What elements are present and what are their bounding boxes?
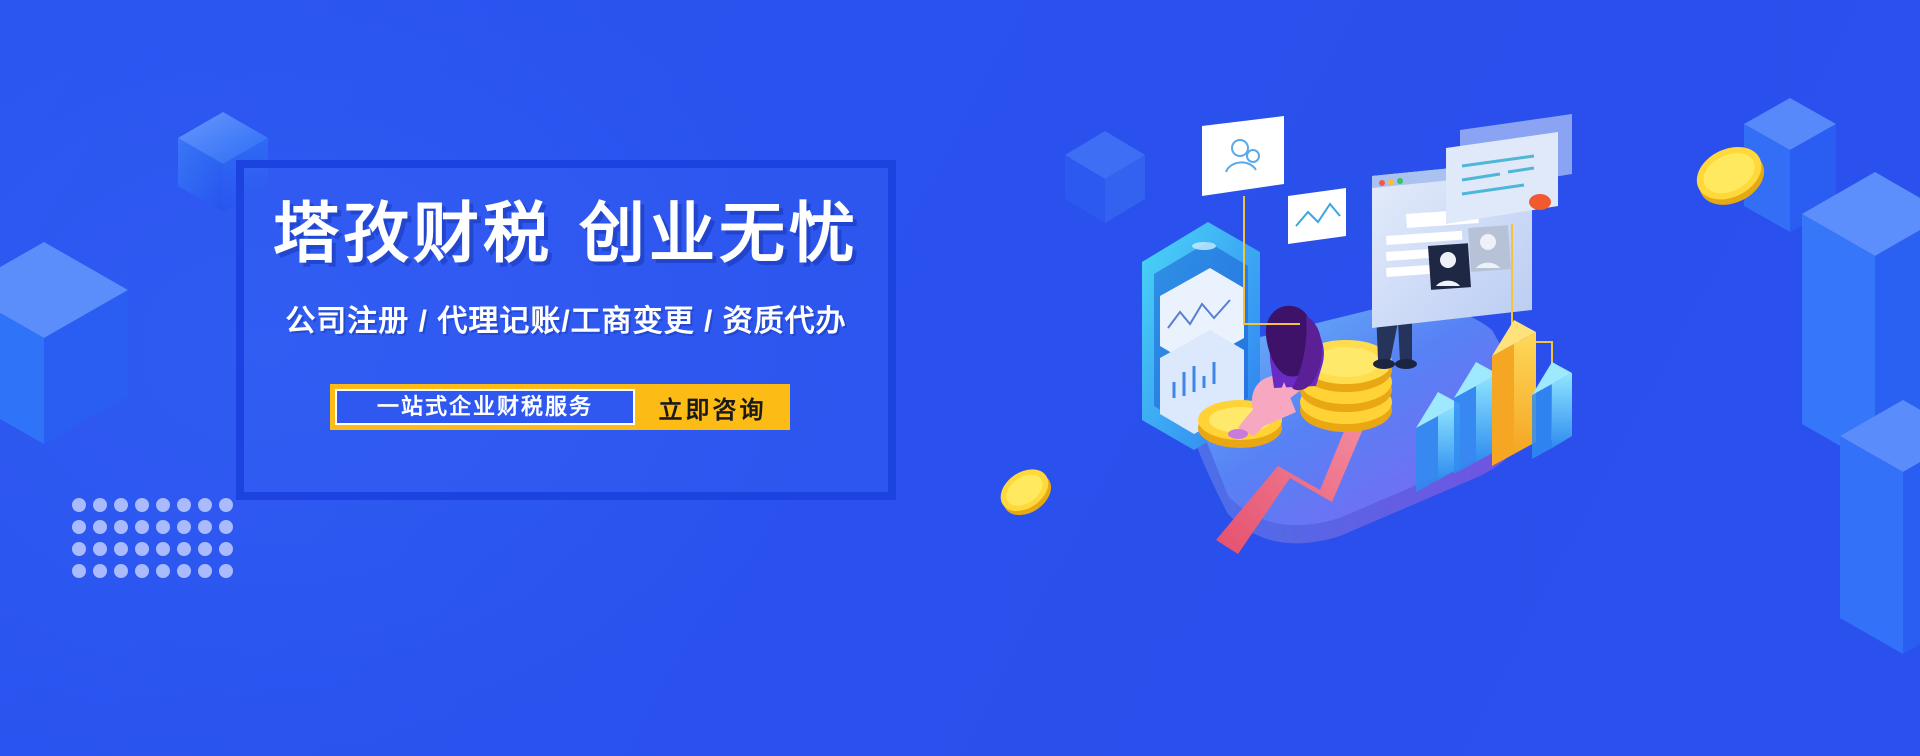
consult-now-button[interactable]: 立即咨询 xyxy=(635,390,790,425)
line-chart-card xyxy=(1288,188,1346,244)
content-frame: 塔孜财税创业无忧 公司注册 / 代理记账/工商变更 / 资质代办 一站式企业财税… xyxy=(236,160,896,500)
dot-grid-pattern xyxy=(72,498,240,586)
gold-coin-icon xyxy=(982,448,1068,534)
headline-tagline: 创业无忧 xyxy=(579,198,859,271)
iso-block-icon xyxy=(1800,170,1920,470)
iso-block-icon xyxy=(1838,398,1920,658)
credit-card xyxy=(1446,114,1572,224)
subtitle: 公司注册 / 代理记账/工商变更 / 资质代办 xyxy=(244,296,888,340)
promo-banner: 塔孜财税创业无忧 公司注册 / 代理记账/工商变更 / 资质代办 一站式企业财税… xyxy=(0,0,1920,756)
cta-bar: 一站式企业财税服务 立即咨询 xyxy=(330,384,790,430)
profile-card xyxy=(1202,116,1284,196)
iso-block-icon xyxy=(0,238,130,448)
gold-coin-icon xyxy=(1677,122,1784,229)
isometric-business-illustration xyxy=(1120,110,1580,570)
service-tag-badge: 一站式企业财税服务 xyxy=(335,389,635,425)
headline-brand: 塔孜财税 xyxy=(273,198,553,271)
page-title: 塔孜财税创业无忧 xyxy=(244,202,888,268)
